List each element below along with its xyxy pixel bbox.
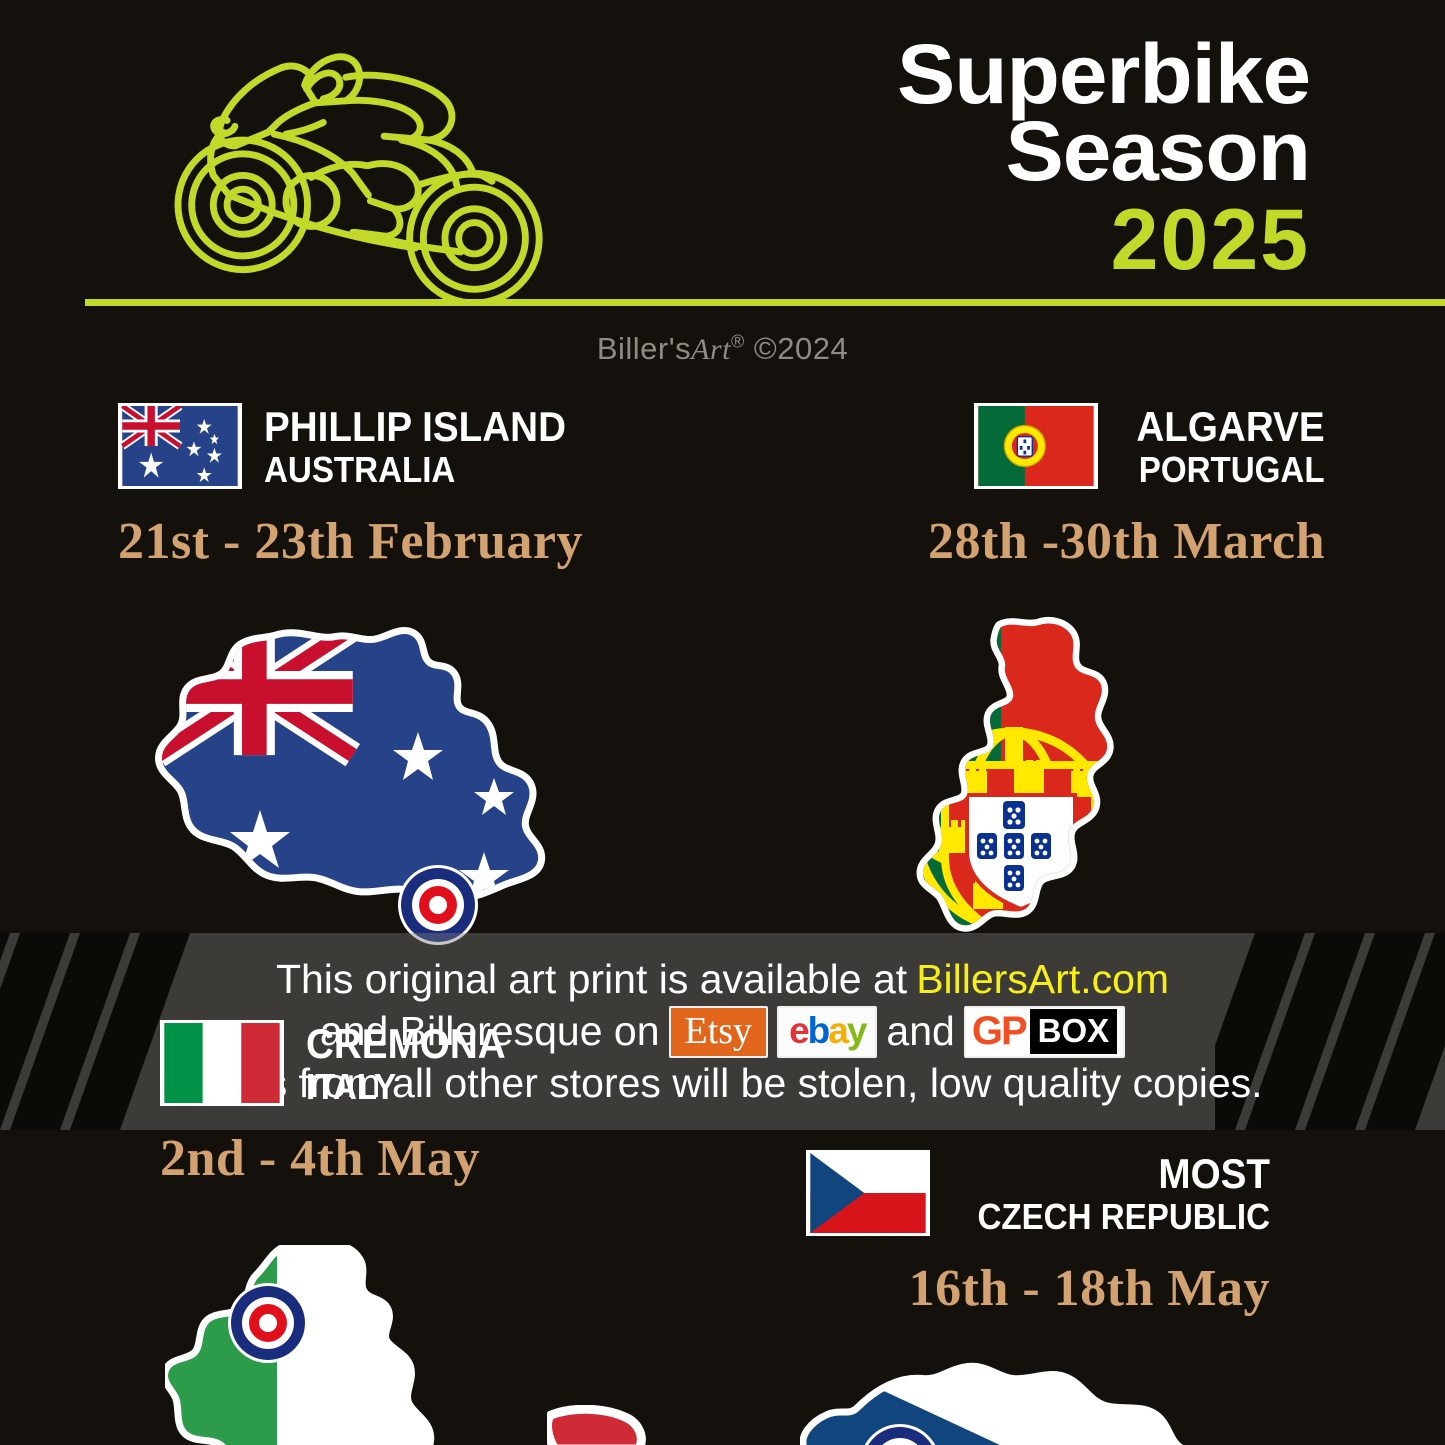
header-divider-line xyxy=(85,299,1445,306)
race-block-phillip-island: PHILLIP ISLAND AUSTRALIA 21st - 23th Feb… xyxy=(118,403,592,571)
country-name-italy: ITALY xyxy=(306,1066,506,1107)
title-year: 2025 xyxy=(745,197,1310,283)
signature-script: Art xyxy=(691,333,731,366)
signature-name: Biller's xyxy=(597,331,691,366)
track-marker-roundel xyxy=(228,1283,308,1363)
race-date-phillip-island: 21st - 23th February xyxy=(118,512,592,571)
poster-canvas: Superbike Season 2025 Biller'sArt® ©2024 xyxy=(0,0,1445,1445)
race-block-cremona: CREMONA ITALY 2nd - 4th May xyxy=(160,1020,523,1188)
stripes-right-icon xyxy=(1215,933,1445,1130)
country-name-australia: AUSTRALIA xyxy=(264,449,566,490)
map-czech-republic xyxy=(800,1352,1230,1445)
flag-portugal xyxy=(974,403,1098,489)
track-name-algarve: ALGARVE xyxy=(1137,405,1325,449)
track-name-phillip-island: PHILLIP ISLAND xyxy=(264,405,566,449)
map-italy xyxy=(165,1245,525,1445)
race-block-algarve: ALGARVE PORTUGAL 28th -30th March xyxy=(928,403,1325,571)
superbike-racer-icon xyxy=(165,38,560,303)
race-block-most: MOST CZECH REPUBLIC 16th - 18th May xyxy=(806,1150,1270,1318)
flag-czech-republic xyxy=(806,1150,930,1236)
signature-registered-icon: ® xyxy=(731,332,745,352)
flag-italy xyxy=(160,1020,284,1106)
poster-title: Superbike Season 2025 xyxy=(745,36,1310,283)
race-date-algarve: 28th -30th March xyxy=(928,512,1325,571)
track-name-most: MOST xyxy=(977,1152,1270,1196)
flag-australia xyxy=(118,403,242,489)
signature-copyright: ©2024 xyxy=(754,331,848,366)
country-name-czech-republic: CZECH REPUBLIC xyxy=(977,1196,1270,1237)
artist-signature: Biller'sArt® ©2024 xyxy=(0,331,1445,367)
race-date-most: 16th - 18th May xyxy=(806,1259,1270,1318)
title-line-superbike: Superbike xyxy=(722,36,1310,113)
country-name-portugal: PORTUGAL xyxy=(1137,449,1325,490)
track-name-cremona: CREMONA xyxy=(306,1022,506,1066)
title-line-season: Season xyxy=(722,113,1310,190)
map-portugal xyxy=(905,615,1155,960)
map-australia xyxy=(150,620,580,955)
map-italy-sicily xyxy=(547,1405,657,1445)
race-date-cremona: 2nd - 4th May xyxy=(160,1129,523,1188)
